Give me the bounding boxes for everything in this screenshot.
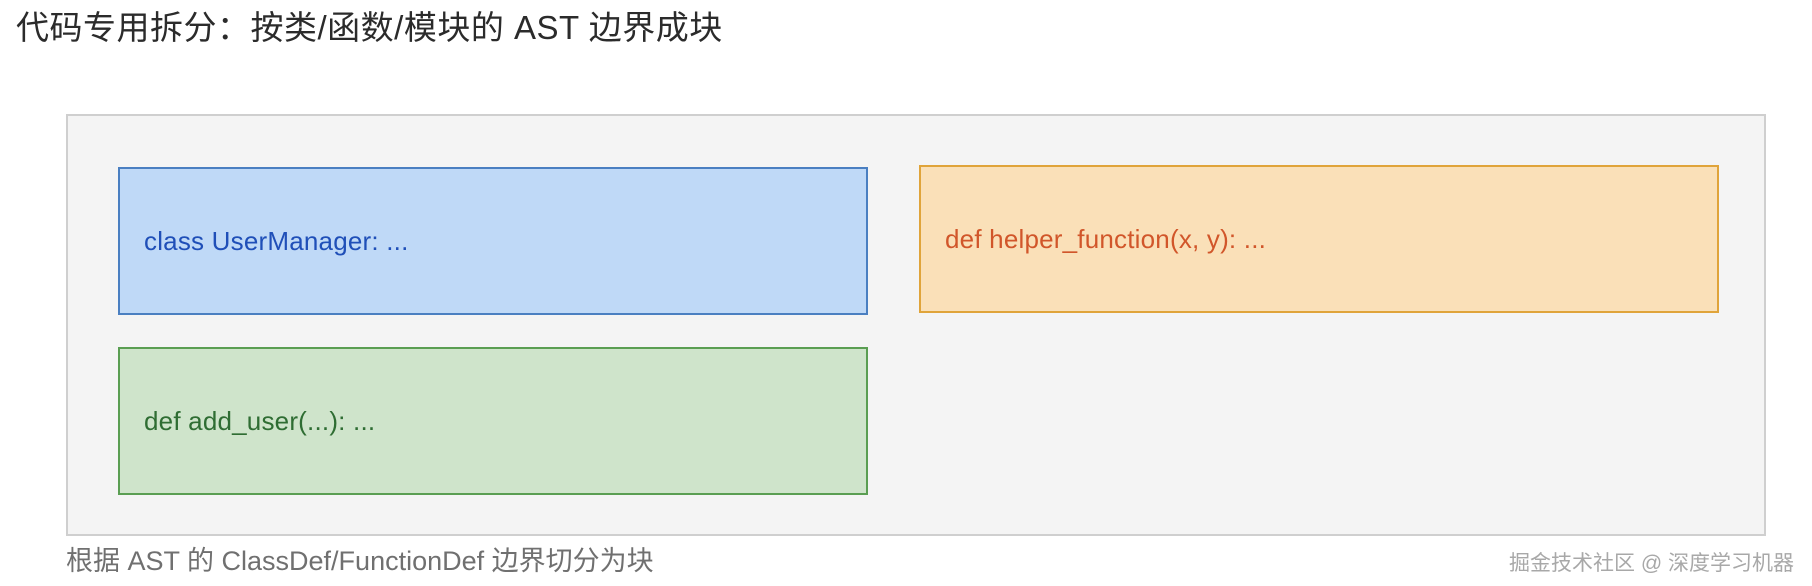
page-title: 代码专用拆分：按类/函数/模块的 AST 边界成块 xyxy=(16,6,723,50)
code-block-def-add-user: def add_user(...): ... xyxy=(118,347,868,495)
watermark: 掘金技术社区 @ 深度学习机器 xyxy=(1509,551,1794,577)
code-block-label: def add_user(...): ... xyxy=(120,406,375,437)
diagram-caption: 根据 AST 的 ClassDef/FunctionDef 边界切分为块 xyxy=(66,544,654,578)
code-block-label: class UserManager: ... xyxy=(120,226,409,257)
code-block-def-helper-function: def helper_function(x, y): ... xyxy=(919,165,1719,313)
code-block-class-usermanager: class UserManager: ... xyxy=(118,167,868,315)
ast-chunk-diagram-panel: class UserManager: ... def add_user(...)… xyxy=(66,114,1766,536)
code-block-label: def helper_function(x, y): ... xyxy=(921,224,1266,255)
